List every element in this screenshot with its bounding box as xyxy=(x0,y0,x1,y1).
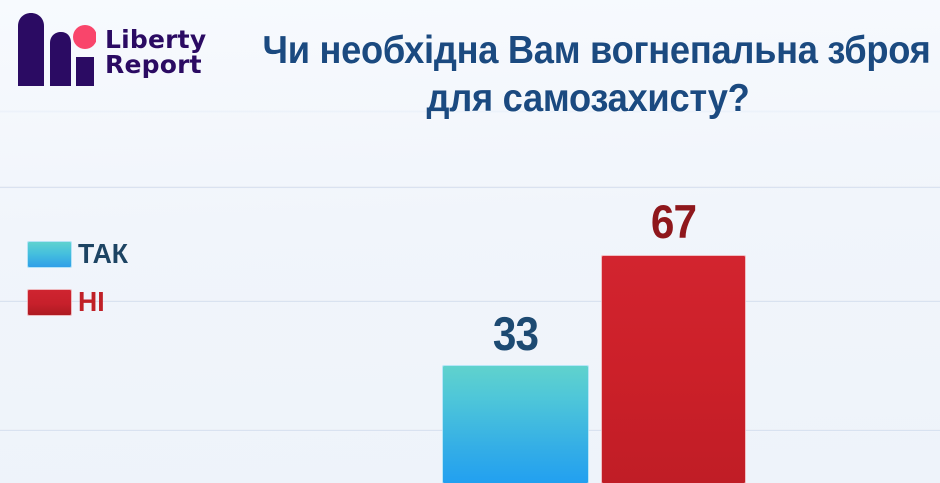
bar-value-no: 67 xyxy=(609,198,738,245)
brand-name-line1: Liberty xyxy=(105,27,206,53)
legend-item-no: НІ xyxy=(28,286,131,318)
legend-item-yes: ТАК xyxy=(28,238,131,270)
bar-no[interactable] xyxy=(602,256,745,483)
poll-question-line1: Чи необхідна Вам вогнепальна зброя xyxy=(263,28,914,75)
brand-logo: Liberty Report xyxy=(8,6,233,98)
background-gridline-1 xyxy=(0,186,940,189)
legend-label-no: НІ xyxy=(78,286,105,318)
liberty-report-logo-icon xyxy=(8,10,96,94)
legend-label-yes: ТАК xyxy=(78,238,128,270)
legend-swatch-no-icon xyxy=(28,290,71,315)
bar-yes[interactable] xyxy=(443,366,588,483)
bar-group-no: 67 xyxy=(602,256,745,483)
legend-swatch-yes-icon xyxy=(28,242,71,267)
poll-question-line2: для самозахисту? xyxy=(263,76,914,123)
brand-wordmark: Liberty Report xyxy=(105,27,206,78)
poll-infographic: Liberty Report Чи необхідна Вам вогнепал… xyxy=(0,0,940,483)
bar-value-yes: 33 xyxy=(450,310,581,357)
footer-cutoff-text xyxy=(0,471,940,483)
bar-group-yes: 33 xyxy=(443,366,588,483)
poll-question-title: Чи необхідна Вам вогнепальна зброя для с… xyxy=(263,28,914,123)
brand-name-line2: Report xyxy=(105,52,206,78)
chart-legend: ТАК НІ xyxy=(28,238,131,318)
background-gridline-2 xyxy=(0,300,940,303)
